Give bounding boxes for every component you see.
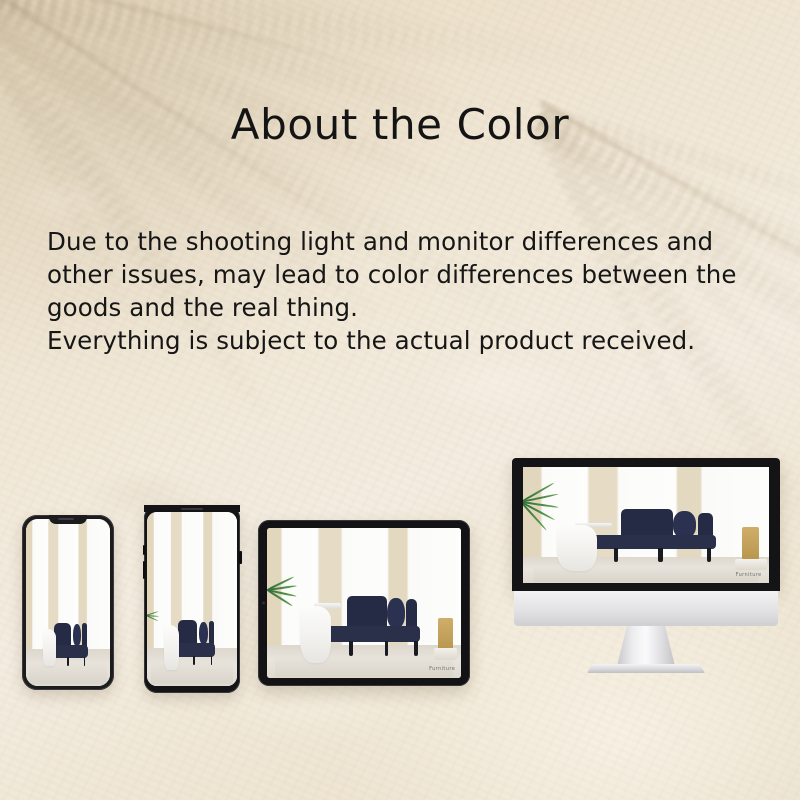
tablet-screen: Furniture [267, 528, 461, 678]
white-throw-blanket [300, 606, 331, 663]
white-throw-blanket [43, 629, 56, 666]
navy-chaise-sofa [50, 623, 102, 666]
disclaimer-text: Due to the shooting light and monitor di… [47, 225, 777, 357]
navy-chaise-sofa [174, 620, 230, 665]
scene-plant [147, 602, 161, 630]
product-photo-scene [147, 512, 237, 686]
phone-bezel-screen [147, 512, 237, 686]
scene-rug [275, 657, 454, 677]
monitor-chin [514, 591, 778, 626]
palm-frond-shadow-left [0, 0, 680, 440]
disclaimer-line-1: Due to the shooting light and monitor di… [47, 225, 777, 258]
scene-plant [267, 567, 304, 615]
phone-top-bezel [144, 505, 240, 512]
disclaimer-line-3: goods and the real thing. [47, 291, 777, 324]
page-title: About the Color [0, 100, 800, 149]
product-photo-scene: Furniture [267, 528, 461, 678]
tablet-device: Furniture [258, 520, 470, 686]
phone-assistant-button[interactable] [143, 545, 146, 555]
smartphone-notch-device [22, 515, 114, 690]
phone-volume-button[interactable] [143, 561, 146, 579]
photo-watermark: Furniture [736, 572, 762, 578]
monitor-panel: Furniture [512, 458, 780, 591]
product-photo-scene: Furniture [523, 467, 769, 583]
product-photo-scene [26, 519, 110, 686]
scene-side-table [742, 527, 759, 559]
page-root: About the Color Due to the shooting ligh… [0, 0, 800, 800]
phone-notch [49, 515, 87, 524]
disclaimer-line-4: Everything is subject to the actual prod… [47, 324, 777, 357]
photo-watermark: Furniture [429, 666, 455, 672]
monitor-stand-neck [617, 626, 675, 666]
monitor-stand-base [587, 664, 705, 673]
phone-notch-screen [26, 519, 110, 686]
monitor-screen: Furniture [523, 467, 769, 583]
tablet-camera [262, 602, 265, 605]
smartphone-bezel-device [144, 505, 240, 693]
white-throw-blanket [164, 625, 179, 670]
white-throw-blanket [557, 525, 596, 571]
desktop-monitor-device: Furniture [512, 458, 780, 688]
phone-power-button[interactable] [239, 551, 242, 564]
disclaimer-line-2: other issues, may lead to color differen… [47, 258, 777, 291]
